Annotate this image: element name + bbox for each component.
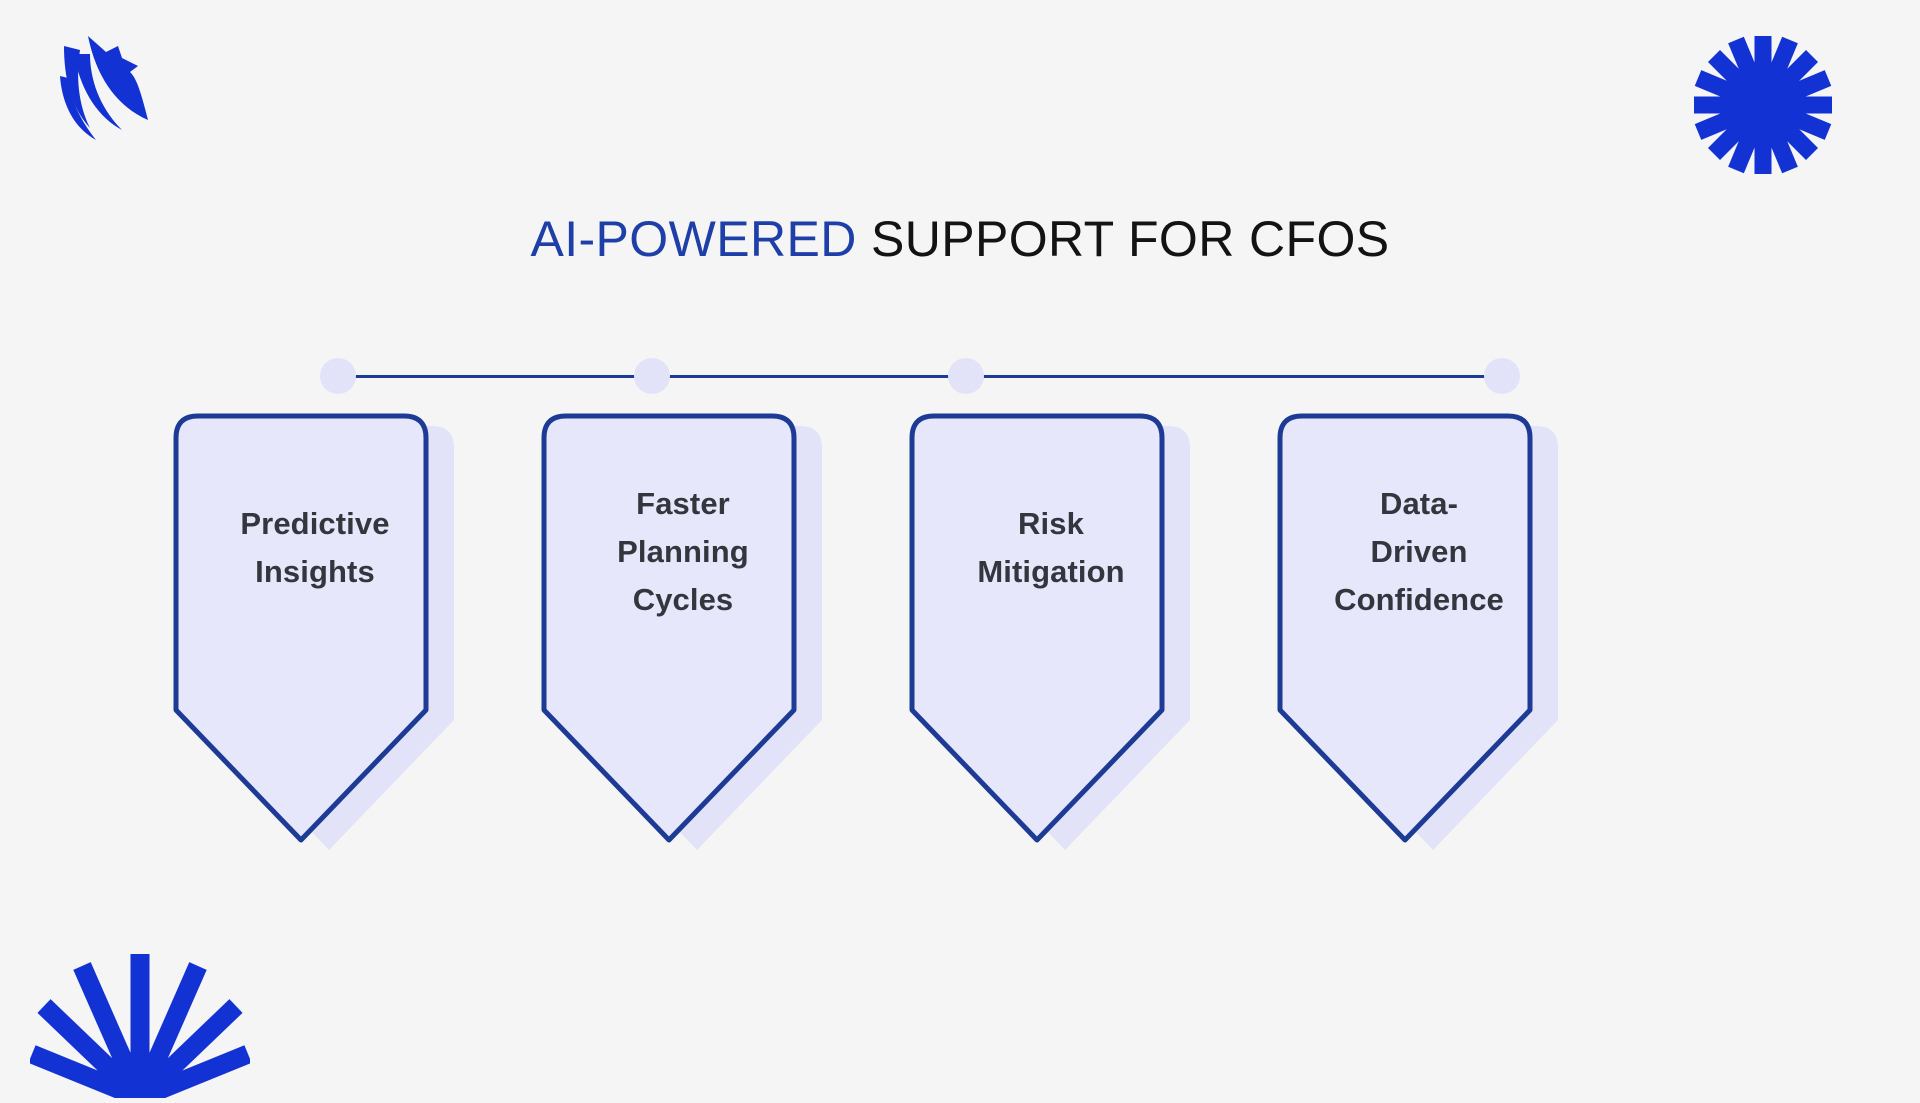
eagle-logo-icon <box>44 28 152 144</box>
card-faster-planning-cycles[interactable]: FasterPlanningCycles <box>518 408 848 908</box>
timeline-rail <box>320 358 1520 394</box>
half-burst-icon <box>30 948 250 1098</box>
card-risk-mitigation[interactable]: RiskMitigation <box>886 408 1216 908</box>
timeline-dot-3[interactable] <box>948 358 984 394</box>
timeline-dot-2[interactable] <box>634 358 670 394</box>
card-label-data-driven-confidence: Data-DrivenConfidence <box>1270 480 1568 624</box>
card-predictive-insights[interactable]: PredictiveInsights <box>150 408 480 908</box>
asterisk-burst-icon <box>1688 30 1838 180</box>
page-title-rest: SUPPORT FOR CFOS <box>857 211 1390 267</box>
page-title: AI-POWERED SUPPORT FOR CFOS <box>0 212 1920 267</box>
card-data-driven-confidence[interactable]: Data-DrivenConfidence <box>1254 408 1584 908</box>
card-shape <box>886 408 1216 908</box>
card-label-faster-planning-cycles: FasterPlanningCycles <box>534 480 832 624</box>
cards-row: PredictiveInsights FasterPlanningCycles … <box>150 408 1770 908</box>
card-label-risk-mitigation: RiskMitigation <box>902 500 1200 596</box>
card-shape <box>150 408 480 908</box>
timeline-connector-line <box>342 375 1498 378</box>
page-title-accent: AI-POWERED <box>530 211 856 267</box>
timeline-dot-1[interactable] <box>320 358 356 394</box>
timeline-dot-4[interactable] <box>1484 358 1520 394</box>
card-label-predictive-insights: PredictiveInsights <box>166 500 464 596</box>
